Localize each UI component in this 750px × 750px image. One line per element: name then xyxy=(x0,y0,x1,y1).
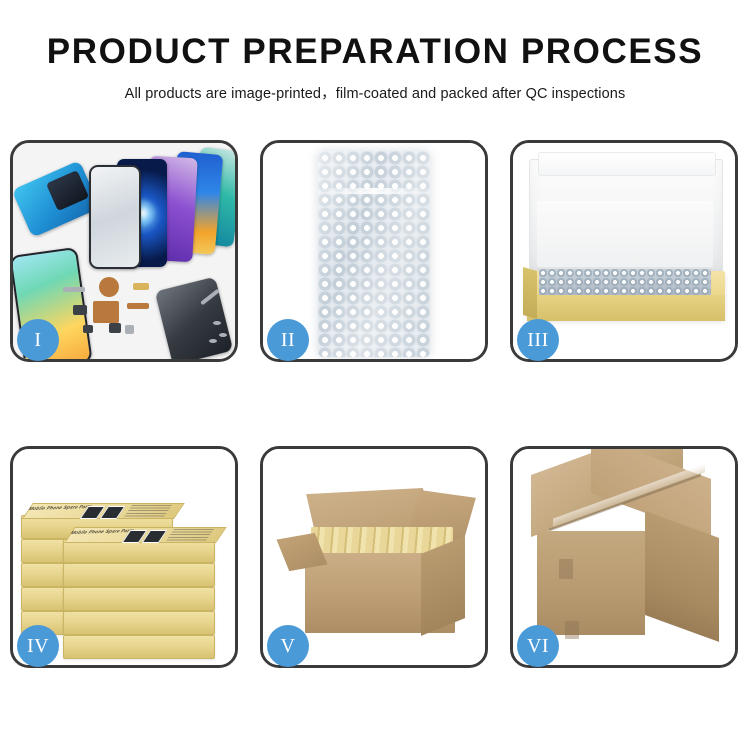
step-badge-6: VI xyxy=(517,625,559,667)
backing-film-icon xyxy=(13,160,100,238)
step-badge-4: IV xyxy=(17,625,59,667)
box-front-panel-icon xyxy=(527,295,725,321)
stacked-box xyxy=(63,563,215,587)
carton-handle-tab xyxy=(565,621,579,639)
screw-icon xyxy=(219,333,227,337)
speaker-component-icon xyxy=(99,277,119,297)
stacked-box xyxy=(63,587,215,611)
mesh-component-icon xyxy=(93,301,119,323)
step-badge-5: V xyxy=(267,625,309,667)
sim-tray-icon xyxy=(125,325,134,334)
process-steps-grid: I II III Mobile Phone Spare Parts xyxy=(10,140,740,668)
stacked-box xyxy=(63,635,215,659)
phone-glass-icon xyxy=(89,165,141,269)
screw-icon xyxy=(209,339,217,343)
camera-module-icon xyxy=(73,305,87,315)
stacked-box xyxy=(63,611,215,635)
box-spec-lines xyxy=(124,505,172,517)
button-component-icon xyxy=(83,325,93,333)
step-badge-2: II xyxy=(267,319,309,361)
step-panel-6: VI xyxy=(510,446,738,668)
ribbon-cable-icon xyxy=(127,303,149,309)
step-panel-4: Mobile Phone Spare Parts Mobile Phone Sp… xyxy=(10,446,238,668)
vibration-motor-icon xyxy=(109,323,121,333)
carton-side-panel xyxy=(421,536,465,636)
phone-housing-icon xyxy=(155,277,234,359)
step-panel-2: II xyxy=(260,140,488,362)
flex-cable-icon xyxy=(63,287,85,292)
screw-icon xyxy=(213,321,221,325)
stacked-box: Mobile Phone Spare Parts xyxy=(63,539,215,563)
box-spec-lines xyxy=(166,529,214,541)
sealed-carton-icon xyxy=(531,475,723,647)
foam-sheet-icon xyxy=(537,201,713,267)
carton-front-panel xyxy=(537,531,645,635)
open-carton-icon xyxy=(285,483,471,641)
page-subtitle: All products are image-printed，film-coat… xyxy=(0,82,750,103)
page-title: PRODUCT PREPARATION PROCESS xyxy=(0,34,750,71)
carton-handle-tab xyxy=(559,559,573,579)
bubble-wrap-icon xyxy=(318,151,430,357)
step-badge-1: I xyxy=(17,319,59,361)
connector-icon xyxy=(133,283,149,290)
step-panel-5: V xyxy=(260,446,488,668)
box-side-flap-icon xyxy=(523,267,537,319)
step-panel-1: I xyxy=(10,140,238,362)
page-header: PRODUCT PREPARATION PROCESS All products… xyxy=(0,0,750,103)
step-panel-3: III xyxy=(510,140,738,362)
step-badge-3: III xyxy=(517,319,559,361)
box-stack: Mobile Phone Spare Parts Mobile Phone Sp… xyxy=(21,467,233,657)
